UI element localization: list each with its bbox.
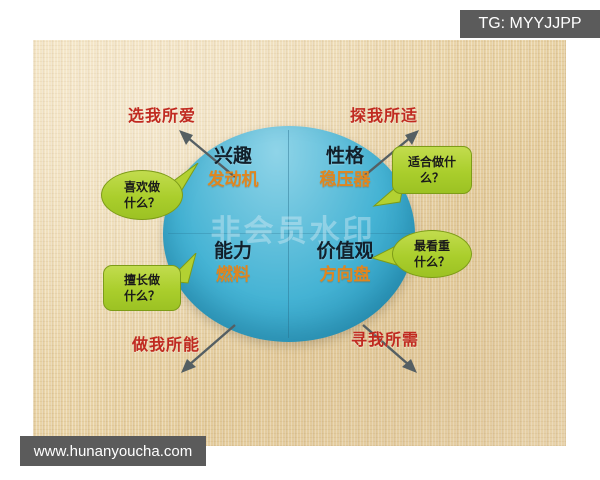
quadrant-divider-vertical: [288, 130, 289, 338]
quadrant-values-metaphor: 方向盘: [290, 264, 400, 286]
quadrant-character-metaphor: 稳压器: [290, 169, 400, 191]
quadrant-character-title: 性格: [290, 145, 400, 169]
outer-label-love: 选我所爱: [128, 102, 196, 126]
quadrant-character: 性格 稳压器: [290, 145, 400, 191]
quadrant-ability-metaphor: 燃料: [178, 264, 288, 286]
bubble-suitable: 适合做什 么？: [392, 146, 472, 194]
quadrant-values: 价值观 方向盘: [290, 240, 400, 286]
bubble-good-at-line2: 什么？: [124, 288, 160, 304]
bubble-value-most-line1: 最看重: [414, 238, 450, 254]
quadrant-divider-horizontal: [168, 233, 410, 234]
bubble-value-most: 最看重 什么？: [392, 230, 472, 278]
watermark-website: www.hunanyoucha.com: [20, 436, 206, 466]
quadrant-interest-metaphor: 发动机: [178, 169, 288, 191]
quadrant-values-title: 价值观: [290, 240, 400, 264]
outer-label-can: 做我所能: [132, 331, 200, 355]
quadrant-ability: 能力 燃料: [178, 240, 288, 286]
bubble-good-at-line1: 擅长做: [124, 272, 160, 288]
bubble-suitable-line2: 么？: [420, 170, 444, 186]
quadrant-interest: 兴趣 发动机: [178, 145, 288, 191]
outer-label-need: 寻我所需: [351, 326, 419, 350]
screenshot-canvas: 非会员水印 兴趣 发动机 性格 稳压器 能力 燃料 价值观 方向盘 选我所爱 探…: [0, 0, 600, 480]
bubble-good-at: 擅长做 什么？: [103, 265, 181, 311]
bubble-like-line1: 喜欢做: [124, 179, 160, 195]
quadrant-ability-title: 能力: [178, 240, 288, 264]
bubble-like-line2: 什么？: [124, 195, 160, 211]
bubble-value-most-line2: 什么？: [414, 254, 450, 270]
bubble-like: 喜欢做 什么？: [101, 170, 183, 220]
outer-label-fit: 探我所适: [350, 102, 418, 126]
bubble-suitable-line1: 适合做什: [408, 154, 456, 170]
watermark-telegram: TG: MYYJJPP: [460, 10, 600, 38]
quadrant-interest-title: 兴趣: [178, 145, 288, 169]
